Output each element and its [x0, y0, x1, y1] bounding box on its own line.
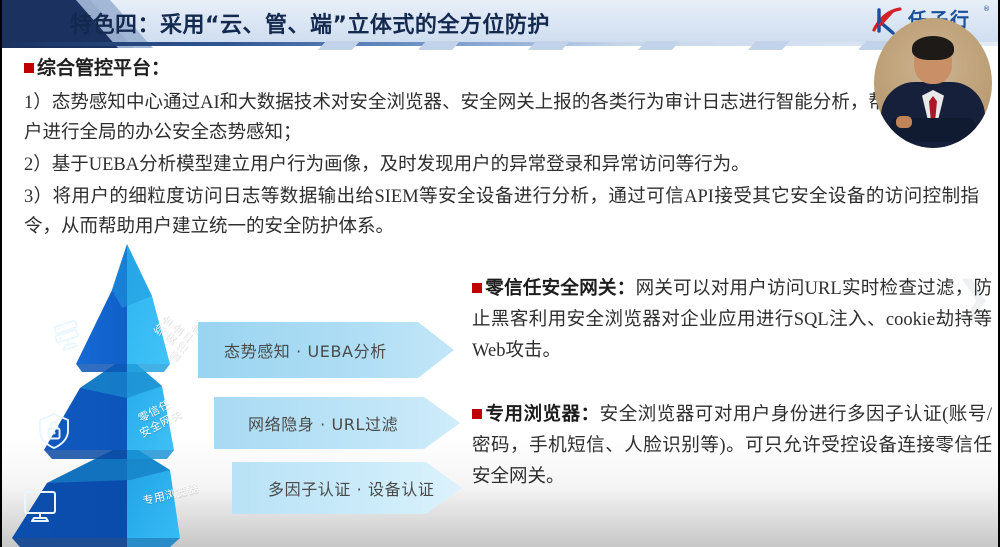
pyramid-banner-1: 态势感知 · UEBA分析	[198, 322, 454, 378]
shield-lock-icon	[35, 411, 73, 451]
body-paragraph-1: 1）态势感知中心通过AI和大数据技术对安全浏览器、安全网关上报的各类行为审计日志…	[24, 88, 924, 148]
body-heading-label: 综合管控平台：	[37, 58, 170, 79]
note-1-title: 零信任安全网关：	[485, 279, 636, 299]
presenter-video-bubble	[874, 18, 992, 148]
note-1-bullet-icon	[472, 283, 482, 293]
pyramid-banner-1-label: 态势感知 · UEBA分析	[198, 338, 387, 362]
note-2-title: 专用浏览器：	[485, 405, 600, 425]
page-title: 特色四：采用“云、管、端”立体式的全方位防护	[70, 7, 550, 39]
server-platform-icon	[49, 320, 89, 354]
pyramid-banner-3: 多因子认证 · 设备认证	[232, 462, 462, 514]
monitor-icon	[20, 488, 62, 526]
note-block-1: 零信任安全网关：网关可以对用户访问URL实时检查过滤，防止黑客利用安全浏览器对企…	[472, 274, 992, 367]
slide-header: 特色四：采用“云、管、端”立体式的全方位防护	[2, 0, 1000, 48]
presenter-hair	[912, 36, 954, 60]
body-text-block: 综合管控平台： 1）态势感知中心通过AI和大数据技术对安全浏览器、安全网关上报的…	[24, 56, 984, 244]
note-2-bullet-icon	[472, 409, 482, 419]
body-heading: 综合管控平台：	[24, 56, 984, 82]
presenter-hand	[896, 116, 912, 128]
slide-canvas: 特色四：采用“云、管、端”立体式的全方位防护 任子行 SURFILTER ® 综…	[0, 0, 1000, 547]
pyramid-banner-2-label: 网络隐身 · URL过滤	[214, 411, 398, 435]
red-square-bullet-icon	[24, 63, 34, 73]
note-block-2: 专用浏览器：安全浏览器可对用户身份进行多因子认证(账号/密码，手机短信、人脸识别…	[472, 400, 992, 493]
logo-registered-mark: ®	[983, 5, 990, 13]
pyramid-banner-2: 网络隐身 · URL过滤	[214, 397, 460, 449]
body-paragraph-3: 3）将用户的细粒度访问日志等数据输出给SIEM等安全设备进行分析，通过可信API…	[24, 182, 979, 242]
body-paragraph-2: 2）基于UEBA分析模型建立用户行为画像，及时发现用户的异常登录和异常访问等行为…	[24, 150, 974, 180]
pyramid-banner-3-label: 多因子认证 · 设备认证	[232, 476, 434, 500]
